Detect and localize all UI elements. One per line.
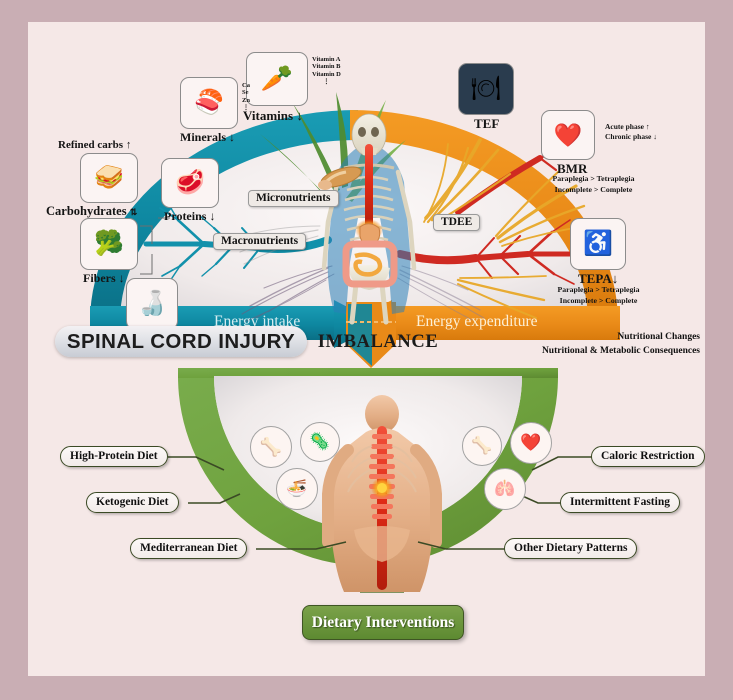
meat-and-eggs-icon: 🥩 — [175, 171, 205, 195]
organ-gut-microbiota: 🦠 — [300, 422, 340, 462]
tef-caption: TEF — [474, 116, 499, 132]
mineral-zn: Zn — [242, 97, 250, 104]
broccoli-icon: 🥦 — [94, 232, 124, 256]
dietary-interventions-box[interactable]: Dietary Interventions — [302, 605, 464, 640]
carbohydrates-arrow: ⇅ — [130, 207, 138, 217]
organ-kidneys: 🫁 — [484, 468, 526, 510]
person-eating-with-flame-icon: 🍽 — [471, 77, 501, 101]
mineral-list: Ca Se Zn ⋮ — [242, 82, 250, 111]
figure-frame: 🥕 Vitamins ↓ Vitamin A Vitamin B Vitamin… — [0, 0, 733, 700]
kidneys-icon: 🫁 — [494, 479, 515, 499]
mineral-more: ⋮ — [242, 104, 250, 111]
vitamin-more: ⋮ — [312, 78, 341, 85]
nutritional-metabolic-consequences-text: Nutritional & Metabolic Consequences — [480, 346, 700, 356]
figure-canvas: 🥕 Vitamins ↓ Vitamin A Vitamin B Vitamin… — [28, 22, 705, 676]
macronutrients-pill: Macronutrients — [213, 233, 306, 250]
tepa-card: ♿ — [570, 218, 626, 270]
mineral-ca: Ca — [242, 82, 250, 89]
organ-vertebra-bone: 🦴 — [462, 426, 502, 466]
imbalance-text: IMBALANCE — [318, 332, 439, 353]
diet-tag-high-protein[interactable]: High-Protein Diet — [60, 446, 168, 467]
vitamins-card: 🥕 — [246, 52, 308, 106]
vertebra-bone-icon: 🦴 — [471, 436, 492, 456]
bread-sandwich-icon: 🥪 — [94, 166, 124, 190]
heart-with-ecg-icon: ❤️ — [554, 124, 583, 147]
organ-heart: ❤️ — [510, 422, 552, 464]
tepa-details: Paraplegia > Tetraplegia Incomplete > Co… — [526, 285, 671, 307]
fibers-caption: Fibers ↓ — [83, 271, 125, 286]
micronutrients-pill: Micronutrients — [248, 190, 339, 207]
organ-intestine: 🍜 — [276, 468, 318, 510]
oil-bottle-icon: 🍶 — [137, 292, 167, 316]
vitamin-d: Vitamin D — [312, 71, 341, 78]
bmr-detail-2: Incomplete > Complete — [521, 185, 666, 196]
diet-tag-intermittent-fasting[interactable]: Intermittent Fasting — [560, 492, 680, 513]
organ-muscle-bone: 🦴 — [250, 426, 292, 468]
bmr-acute-phase: Acute phase ↑ — [605, 122, 657, 132]
tdee-pill: TDEE — [433, 214, 480, 231]
mineral-se: Se — [242, 89, 250, 96]
tef-card: 🍽 — [458, 63, 514, 115]
minerals-card: 🍣 — [180, 77, 238, 129]
vitamin-list: Vitamin A Vitamin B Vitamin D ⋮ — [312, 56, 341, 85]
gut-microbiota-icon: 🦠 — [309, 432, 330, 452]
fats-card: 🍶 — [126, 278, 178, 330]
bmr-side-notes: Acute phase ↑ Chronic phase ↓ — [605, 122, 657, 142]
carbohydrates-caption: Carbohydrates ⇅ — [46, 204, 137, 219]
salmon-steak-icon: 🍣 — [194, 91, 224, 115]
vitamin-a: Vitamin A — [312, 56, 341, 63]
minerals-caption: Minerals ↓ — [180, 130, 235, 145]
fibers-card: 🥦 — [80, 218, 138, 270]
intestine-icon: 🍜 — [286, 479, 307, 499]
bmr-details: Paraplegia > Tetraplegia Incomplete > Co… — [521, 174, 666, 196]
diet-tag-other-patterns[interactable]: Other Dietary Patterns — [504, 538, 637, 559]
diet-tag-mediterranean[interactable]: Mediterranean Diet — [130, 538, 247, 559]
tepa-detail-2: Incomplete > Complete — [526, 296, 671, 307]
bmr-detail-1: Paraplegia > Tetraplegia — [521, 174, 666, 185]
heart-icon: ❤️ — [520, 433, 541, 453]
carbohydrates-card: 🥪 — [80, 153, 138, 203]
bmr-card: ❤️ — [541, 110, 595, 160]
carbohydrates-text: Carbohydrates — [46, 204, 127, 218]
nutritional-changes-text: Nutritional Changes — [510, 332, 700, 342]
imbalance-label: IMBALANCE — [308, 329, 448, 355]
dietary-interventions-text: Dietary Interventions — [312, 614, 455, 632]
refined-carbs-label: Refined carbs ↑ — [58, 139, 131, 151]
proteins-card: 🥩 — [161, 158, 219, 208]
diet-tag-caloric-restriction[interactable]: Caloric Restriction — [591, 446, 705, 467]
vitamin-b: Vitamin B — [312, 63, 341, 70]
bmr-chronic-phase: Chronic phase ↓ — [605, 132, 657, 142]
proteins-caption: Proteins ↓ — [164, 209, 215, 224]
muscle-bone-icon: 🦴 — [260, 437, 282, 458]
diet-tag-ketogenic[interactable]: Ketogenic Diet — [86, 492, 179, 513]
spinal-cord-injury-text: SPINAL CORD INJURY — [67, 330, 295, 354]
wheelchair-user-icon: ♿ — [583, 232, 613, 256]
tepa-detail-1: Paraplegia > Tetraplegia — [526, 285, 671, 296]
spinal-cord-injury-banner: SPINAL CORD INJURY — [55, 326, 307, 357]
carrot-and-fruit-icon: 🥕 — [261, 66, 293, 92]
vitamins-caption: Vitamins ↓ — [243, 108, 303, 124]
